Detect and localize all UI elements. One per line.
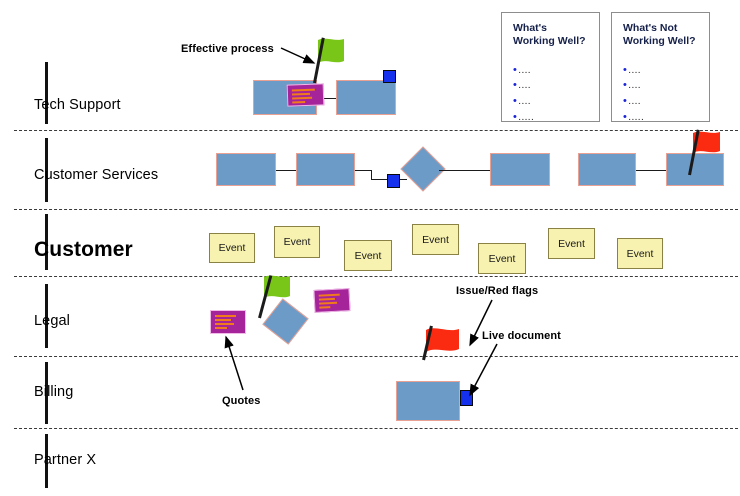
process-box[interactable] <box>216 153 276 186</box>
process-box[interactable] <box>396 381 460 421</box>
annotation-live-document: Live document <box>482 330 561 342</box>
event-note-label: Event <box>422 234 449 246</box>
lane-label-billing: Billing <box>34 384 73 400</box>
lane-label-customer-services: Customer Services <box>34 167 158 183</box>
blue-square-icon[interactable] <box>383 70 396 83</box>
lane-label-tech-support: Tech Support <box>34 97 121 113</box>
event-note[interactable]: Event <box>209 233 255 263</box>
connector <box>636 170 666 171</box>
event-note-label: Event <box>558 238 585 250</box>
card-whats-working-well[interactable]: What's Working Well? .... .... .... ....… <box>501 12 600 122</box>
purple-document-icon[interactable] <box>313 288 350 313</box>
connector <box>371 170 372 179</box>
red-flag-icon[interactable] <box>686 129 722 175</box>
card-title: What's Working Well? <box>513 22 590 49</box>
process-box[interactable] <box>490 153 550 186</box>
annotation-quotes: Quotes <box>222 395 261 407</box>
connector <box>276 170 296 171</box>
card-title: What's Not Working Well? <box>623 22 700 49</box>
purple-document-icon[interactable] <box>210 310 246 334</box>
card-bullet-list: .... .... .... ..... <box>623 63 700 125</box>
purple-document-icon[interactable] <box>287 83 325 106</box>
event-note-label: Event <box>219 242 246 254</box>
card-bullet: .... <box>513 63 590 79</box>
event-note-label: Event <box>489 253 516 265</box>
green-flag-icon[interactable] <box>311 37 346 83</box>
event-note[interactable]: Event <box>617 238 663 269</box>
blue-square-icon[interactable] <box>460 390 473 406</box>
lane-label-legal: Legal <box>34 313 70 329</box>
annotation-issue-red-flags: Issue/Red flags <box>456 285 538 297</box>
red-flag-icon[interactable] <box>420 325 462 380</box>
event-note[interactable]: Event <box>412 224 459 255</box>
lane-divider <box>14 130 738 131</box>
event-note[interactable]: Event <box>274 226 320 258</box>
lane-divider <box>14 276 738 277</box>
card-bullet: .... <box>623 63 700 79</box>
card-bullet: ..... <box>623 110 700 126</box>
card-whats-not-working-well[interactable]: What's Not Working Well? .... .... .... … <box>611 12 710 122</box>
card-bullet: .... <box>623 78 700 94</box>
lane-divider <box>14 356 738 357</box>
connector <box>439 170 490 171</box>
card-bullet: .... <box>513 94 590 110</box>
event-note-label: Event <box>627 248 654 260</box>
event-note[interactable]: Event <box>478 243 526 274</box>
lane-divider <box>14 428 738 429</box>
event-note-label: Event <box>355 250 382 262</box>
lane-label-customer: Customer <box>34 238 133 262</box>
lane-label-partner-x: Partner X <box>34 452 96 468</box>
card-bullet: .... <box>513 78 590 94</box>
card-bullet-list: .... .... .... ..... <box>513 63 590 125</box>
decision-diamond-icon[interactable] <box>400 146 445 191</box>
card-bullet: ..... <box>513 110 590 126</box>
blue-square-icon[interactable] <box>387 174 400 188</box>
process-box[interactable] <box>296 153 355 186</box>
annotation-effective-process: Effective process <box>181 43 274 55</box>
lane-spine <box>45 62 48 124</box>
event-note-label: Event <box>284 236 311 248</box>
swimlane-diagram: Tech Support Customer Services Customer … <box>0 0 740 496</box>
event-note[interactable]: Event <box>548 228 595 259</box>
connector <box>355 170 371 171</box>
card-bullet: .... <box>623 94 700 110</box>
process-box[interactable] <box>336 80 396 115</box>
event-note[interactable]: Event <box>344 240 392 271</box>
lane-divider <box>14 209 738 210</box>
process-box[interactable] <box>578 153 636 186</box>
